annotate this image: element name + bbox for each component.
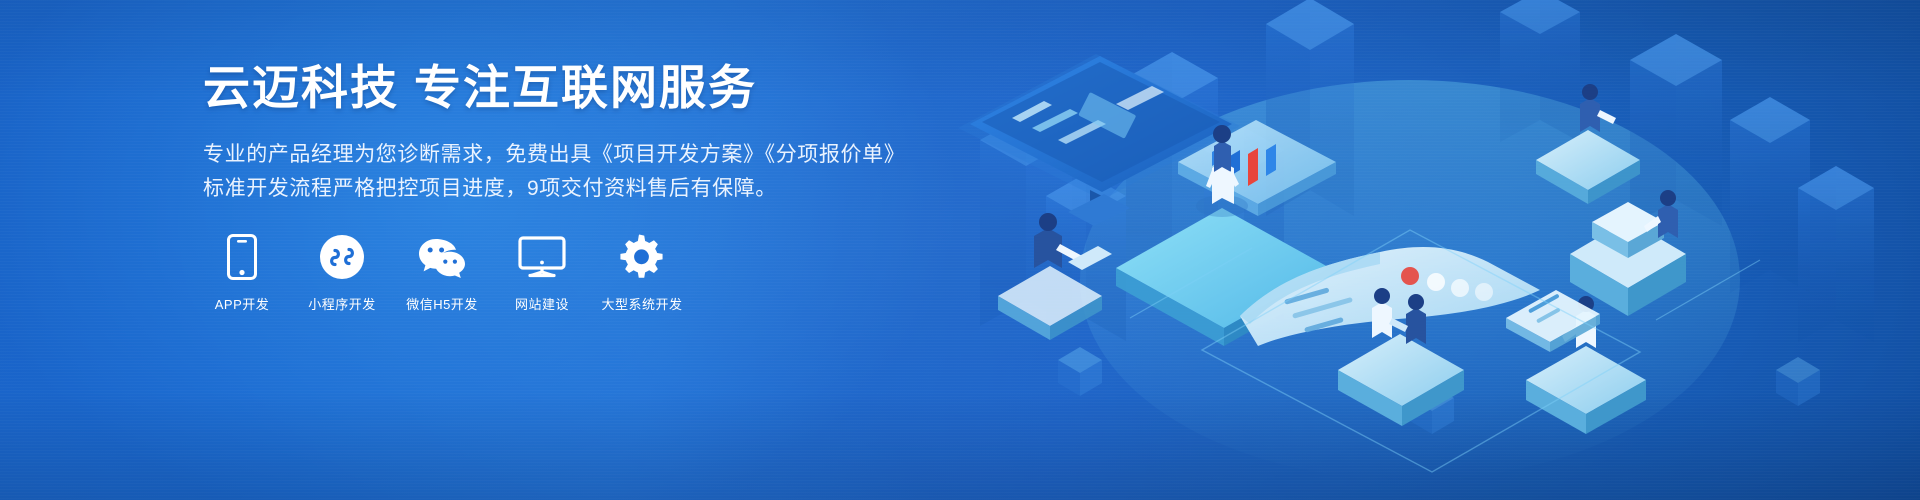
page-title: 云迈科技 专注互联网服务 (203, 62, 903, 114)
service-item-wechat-h5[interactable]: 微信H5开发 (405, 232, 479, 313)
service-item-app[interactable]: APP开发 (205, 232, 279, 313)
service-item-website[interactable]: 网站建设 (505, 232, 579, 313)
service-label: 大型系统开发 (602, 294, 683, 313)
gear-icon (619, 232, 665, 282)
subtitle-line-2: 标准开发流程严格把控项目进度，9项交付资料售后有保障。 (203, 172, 903, 207)
service-label: APP开发 (215, 294, 270, 313)
mobile-phone-icon (227, 232, 257, 282)
mini-program-icon (319, 232, 365, 282)
service-label: 网站建设 (515, 294, 569, 313)
monitor-icon (518, 232, 566, 282)
service-item-miniprogram[interactable]: 小程序开发 (305, 232, 379, 313)
banner-copy: 云迈科技 专注互联网服务 专业的产品经理为您诊断需求，免费出具《项目开发方案》《… (203, 62, 903, 207)
subtitle-line-1: 专业的产品经理为您诊断需求，免费出具《项目开发方案》《分项报价单》 (203, 138, 903, 173)
wechat-icon (418, 232, 466, 282)
promo-banner: 云迈科技 专注互联网服务 专业的产品经理为您诊断需求，免费出具《项目开发方案》《… (0, 0, 1920, 500)
service-label: 小程序开发 (308, 294, 376, 313)
service-label: 微信H5开发 (406, 294, 478, 313)
service-item-large-system[interactable]: 大型系统开发 (605, 232, 679, 313)
banner-subtitle: 专业的产品经理为您诊断需求，免费出具《项目开发方案》《分项报价单》 标准开发流程… (203, 138, 903, 207)
service-list: APP开发 小程序开发 (205, 232, 679, 313)
hero-illustration (940, 0, 1920, 500)
